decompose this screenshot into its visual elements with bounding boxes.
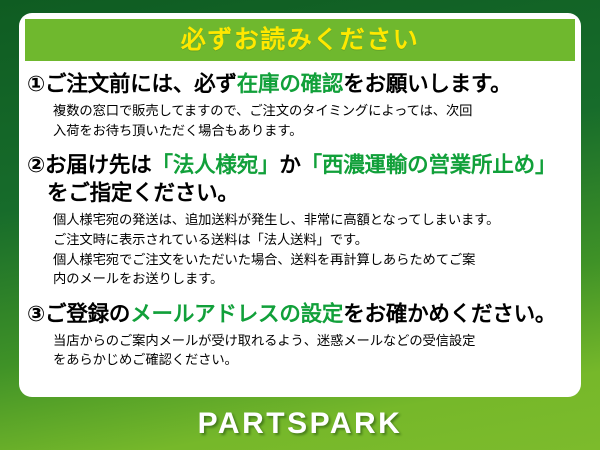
notice-item-2-heading-highlight-2: 「西濃運輸の営業所止め」 — [301, 153, 557, 177]
notice-item-2-heading-part-1: お届け先は — [45, 153, 152, 177]
notice-item-2-marker: ② — [27, 153, 45, 177]
footer: PARTSPARK — [0, 397, 600, 450]
notice-item-2-heading-line-2: をご指定ください。 — [27, 180, 571, 208]
notice-item-3-heading-part-1: ご登録の — [45, 302, 130, 326]
brand-logo: PARTSPARK — [198, 407, 403, 441]
notice-item-3-body-line-2: をあらかじめご確認ください。 — [53, 350, 571, 370]
notice-item-2-body: 個人様宅宛の発送は、追加送料が発生し、非常に高額となってしまいます。 ご注文時に… — [27, 210, 571, 289]
notice-content: ①ご注文前には、必ず在庫の確認をお願いします。 複数の窓口で販売してますので、ご… — [19, 65, 581, 397]
notice-item-1-body: 複数の窓口で販売してますので、ご注文のタイミングによっては、次回 入荷をお待ち頂… — [27, 101, 571, 140]
notice-item-1-body-line-1: 複数の窓口で販売してますので、ご注文のタイミングによっては、次回 — [53, 101, 571, 121]
notice-item-2-heading-part-5: をご指定ください。 — [47, 181, 239, 205]
notice-item-3: ③ご登録のメールアドレスの設定をお確かめください。 当店からのご案内メールが受け… — [27, 301, 571, 370]
notice-item-1-marker: ① — [27, 72, 45, 96]
notice-banner: 必ずお読みください ①ご注文前には、必ず在庫の確認をお願いします。 複数の窓口で… — [0, 0, 600, 450]
notice-item-3-heading-part-3: をお確かめください。 — [343, 302, 556, 326]
notice-item-2-body-line-1: 個人様宅宛の発送は、追加送料が発生し、非常に高額となってしまいます。 — [53, 210, 571, 230]
notice-item-3-body: 当店からのご案内メールが受け取れるよう、迷惑メールなどの受信設定 をあらかじめご… — [27, 331, 571, 370]
notice-item-1-heading: ①ご注文前には、必ず在庫の確認をお願いします。 — [27, 71, 571, 99]
notice-item-2-heading-line-1: ②お届け先は「法人様宛」か「西濃運輸の営業所止め」 — [27, 152, 571, 180]
notice-item-2-body-line-3: 個人様宅宛でご注文をいただいた場合、送料を再計算しあらためてご案 — [53, 250, 571, 270]
notice-item-2: ②お届け先は「法人様宛」か「西濃運輸の営業所止め」 をご指定ください。 個人様宅… — [27, 152, 571, 289]
notice-item-1-body-line-2: 入荷をお待ち頂いただく場合もあります。 — [53, 121, 571, 141]
notice-item-3-body-line-1: 当店からのご案内メールが受け取れるよう、迷惑メールなどの受信設定 — [53, 331, 571, 351]
notice-item-2-heading-highlight-1: 「法人様宛」 — [152, 153, 280, 177]
notice-item-1-heading-part-3: をお願いします。 — [343, 72, 511, 96]
page-title: 必ずお読みください — [181, 28, 420, 53]
notice-item-3-heading: ③ご登録のメールアドレスの設定をお確かめください。 — [27, 301, 571, 329]
notice-item-2-body-line-4: 内のメールをお送りします。 — [53, 269, 571, 289]
notice-item-2-body-line-2: ご注文時に表示されている送料は「法人送料」です。 — [53, 230, 571, 250]
notice-item-1-heading-part-1: ご注文前には、必ず — [45, 72, 237, 96]
notice-item-3-heading-highlight: メールアドレスの設定 — [130, 302, 343, 326]
notice-item-3-marker: ③ — [27, 302, 45, 326]
notice-card: 必ずお読みください ①ご注文前には、必ず在庫の確認をお願いします。 複数の窓口で… — [19, 13, 581, 397]
notice-item-1: ①ご注文前には、必ず在庫の確認をお願いします。 複数の窓口で販売してますので、ご… — [27, 71, 571, 140]
notice-item-2-heading-part-3: か — [279, 153, 300, 177]
header-bar: 必ずお読みください — [25, 19, 575, 61]
notice-item-1-heading-highlight: 在庫の確認 — [237, 72, 344, 96]
